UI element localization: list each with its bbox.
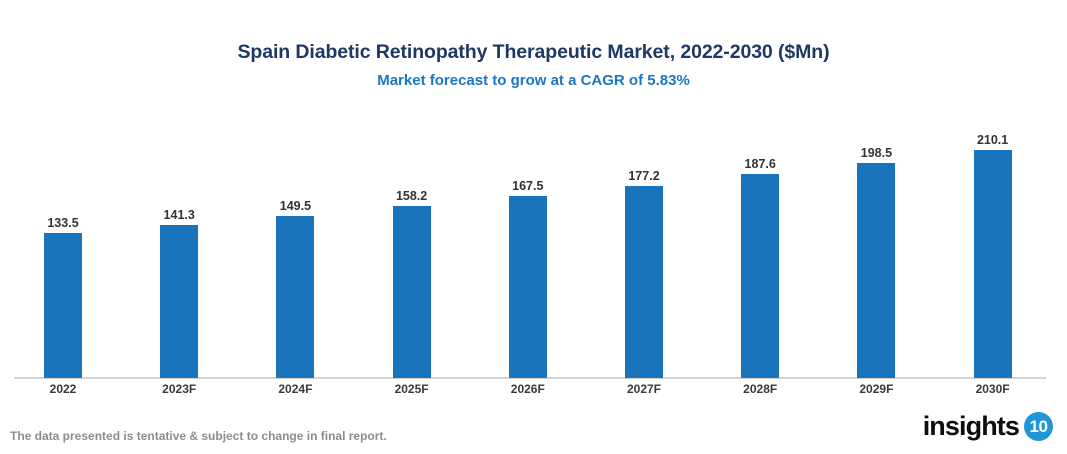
bar-value-label: 167.5 bbox=[489, 179, 567, 193]
logo-badge-text: 10 bbox=[1030, 418, 1048, 435]
logo-wordmark: insights bbox=[923, 411, 1019, 441]
bar-rect[interactable] bbox=[160, 225, 198, 378]
bar-rect[interactable] bbox=[625, 186, 663, 378]
bar-group: 141.32023F bbox=[140, 0, 218, 454]
bar-group: 149.52024F bbox=[256, 0, 334, 454]
x-axis-category-label: 2025F bbox=[373, 382, 451, 397]
x-axis-category-label: 2027F bbox=[605, 382, 683, 397]
bar-rect[interactable] bbox=[509, 196, 547, 378]
logo-badge-icon: 10 bbox=[1024, 412, 1053, 441]
chart-card: Spain Diabetic Retinopathy Therapeutic M… bbox=[0, 0, 1067, 454]
bar-group: 158.22025F bbox=[373, 0, 451, 454]
x-axis-category-label: 2030F bbox=[954, 382, 1032, 397]
footer-disclaimer: The data presented is tentative & subjec… bbox=[10, 429, 387, 444]
x-axis-category-label: 2023F bbox=[140, 382, 218, 397]
bar-group: 198.52029F bbox=[837, 0, 915, 454]
bar-group: 177.22027F bbox=[605, 0, 683, 454]
bar-rect[interactable] bbox=[393, 206, 431, 378]
bar-value-label: 210.1 bbox=[954, 133, 1032, 147]
x-axis-category-label: 2024F bbox=[256, 382, 334, 397]
bar-rect[interactable] bbox=[857, 163, 895, 378]
bar-value-label: 187.6 bbox=[721, 157, 799, 171]
x-axis-category-label: 2029F bbox=[837, 382, 915, 397]
x-axis-category-label: 2022 bbox=[24, 382, 102, 397]
bar-rect[interactable] bbox=[974, 150, 1012, 378]
bar-value-label: 177.2 bbox=[605, 169, 683, 183]
bar-chart-plot-area: 133.52022141.32023F149.52024F158.22025F1… bbox=[0, 0, 1067, 454]
bar-group: 187.62028F bbox=[721, 0, 799, 454]
bar-group: 210.12030F bbox=[954, 0, 1032, 454]
bar-group: 133.52022 bbox=[24, 0, 102, 454]
bar-value-label: 198.5 bbox=[837, 146, 915, 160]
x-axis-category-label: 2028F bbox=[721, 382, 799, 397]
bar-value-label: 149.5 bbox=[256, 199, 334, 213]
bar-group: 167.52026F bbox=[489, 0, 567, 454]
x-axis-category-label: 2026F bbox=[489, 382, 567, 397]
insights10-logo: insights 10 bbox=[923, 409, 1053, 443]
bar-value-label: 158.2 bbox=[373, 189, 451, 203]
bar-rect[interactable] bbox=[741, 174, 779, 378]
bar-rect[interactable] bbox=[44, 233, 82, 378]
bar-value-label: 133.5 bbox=[24, 216, 102, 230]
bar-value-label: 141.3 bbox=[140, 208, 218, 222]
bar-rect[interactable] bbox=[276, 216, 314, 378]
